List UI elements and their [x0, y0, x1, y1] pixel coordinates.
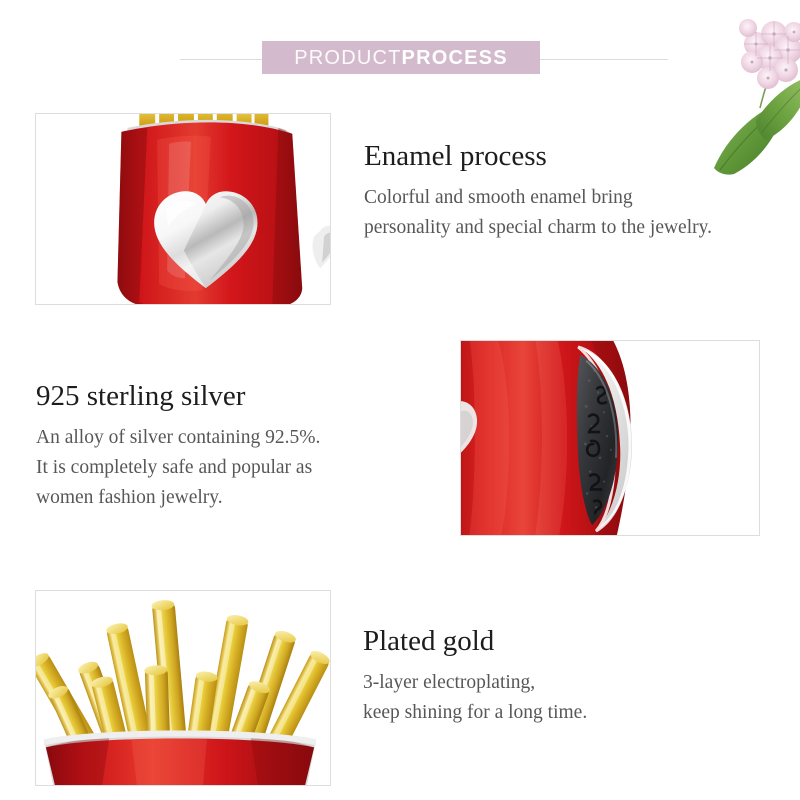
product-photo-enamel[interactable] — [35, 113, 331, 305]
section-silver-body-line-2: It is completely safe and popular as — [36, 453, 320, 483]
section-gold: Plated gold 3-layer electroplating, keep… — [363, 626, 587, 728]
page-title-word-process: PROCESS — [402, 47, 508, 69]
section-silver-body-line-1: An alloy of silver containing 92.5%. — [36, 423, 320, 453]
page-header: PRODUCTPROCESS — [0, 41, 800, 74]
product-photo-silver-hallmark[interactable] — [460, 340, 760, 536]
page-title-word-product: PRODUCT — [294, 47, 401, 69]
page-title-banner: PRODUCTPROCESS — [262, 41, 540, 74]
section-enamel-body-line-2: personality and special charm to the jew… — [364, 213, 712, 243]
page-title: PRODUCTPROCESS — [294, 48, 508, 68]
section-enamel-body-line-1: Colorful and smooth enamel bring — [364, 183, 712, 213]
section-gold-body-line-1: 3-layer electroplating, — [363, 668, 587, 698]
section-silver-body-line-3: women fashion jewelry. — [36, 483, 320, 513]
section-silver: 925 sterling silver An alloy of silver c… — [36, 381, 320, 513]
section-gold-heading: Plated gold — [363, 626, 587, 658]
section-enamel-heading: Enamel process — [364, 141, 712, 173]
header-rule-left — [180, 59, 264, 60]
section-silver-heading: 925 sterling silver — [36, 381, 320, 413]
header-rule-right — [540, 59, 668, 60]
section-gold-body-line-2: keep shining for a long time. — [363, 698, 587, 728]
section-enamel: Enamel process Colorful and smooth ename… — [364, 141, 712, 243]
product-photo-gold-plating[interactable] — [35, 590, 331, 786]
